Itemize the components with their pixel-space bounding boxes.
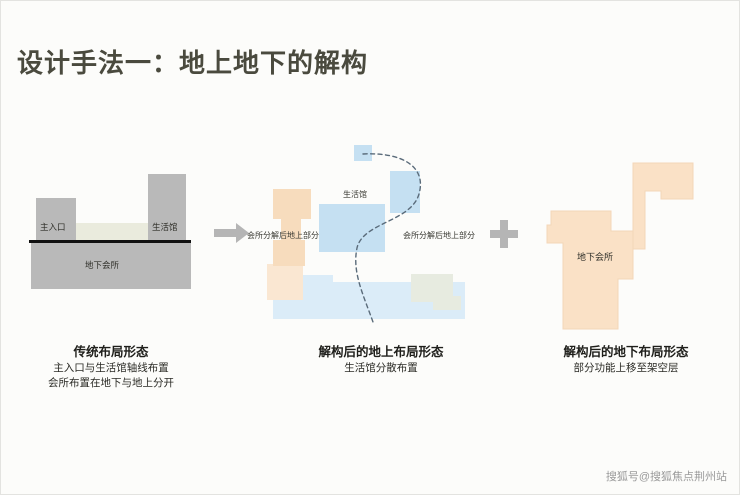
plus-sign-icon-vertical [500, 220, 508, 248]
courtyard-strip-shape [74, 223, 149, 240]
main-entrance-label: 主入口 [40, 223, 66, 232]
right-caption-title: 解构后的地下布局形态 [521, 343, 731, 361]
left-diagram-traditional-layout: 主入口 生活馆 地下会所 [19, 171, 199, 289]
life-hall-label: 生活馆 [152, 223, 178, 232]
left-caption-title: 传统布局形态 [11, 343, 211, 361]
left-caption-line1: 主入口与生活馆轴线布置 [11, 361, 211, 376]
left-caption-line2: 会所布置在地下与地上分开 [11, 376, 211, 391]
underground-clubhouse-right-label: 地下会所 [577, 253, 613, 262]
right-diagram-underground-layout: 地下会所 [533, 161, 713, 336]
left-caption: 传统布局形态 主入口与生活馆轴线布置 会所布置在地下与地上分开 [11, 343, 211, 392]
main-entrance-block [36, 198, 76, 240]
slide-canvas: 设计手法一：地上地下的解构 主入口 生活馆 地下会所 传统布局形态 主入口与生活… [0, 0, 740, 495]
middle-caption: 解构后的地上布局形态 生活馆分散布置 [281, 343, 481, 376]
dashed-connection-curve [251, 136, 471, 326]
right-arrow-icon-shaft [214, 229, 238, 237]
underground-clubhouse-polygon [533, 161, 713, 336]
page-title: 设计手法一：地上地下的解构 [17, 43, 368, 80]
middle-caption-title: 解构后的地上布局形态 [281, 343, 481, 361]
underground-clubhouse-label: 地下会所 [85, 261, 119, 270]
middle-caption-line1: 生活馆分散布置 [281, 361, 481, 376]
watermark-text: 搜狐号@搜狐焦点荆州站 [606, 468, 727, 484]
right-caption: 解构后的地下布局形态 部分功能上移至架空层 [521, 343, 731, 376]
right-caption-line1: 部分功能上移至架空层 [521, 361, 731, 376]
